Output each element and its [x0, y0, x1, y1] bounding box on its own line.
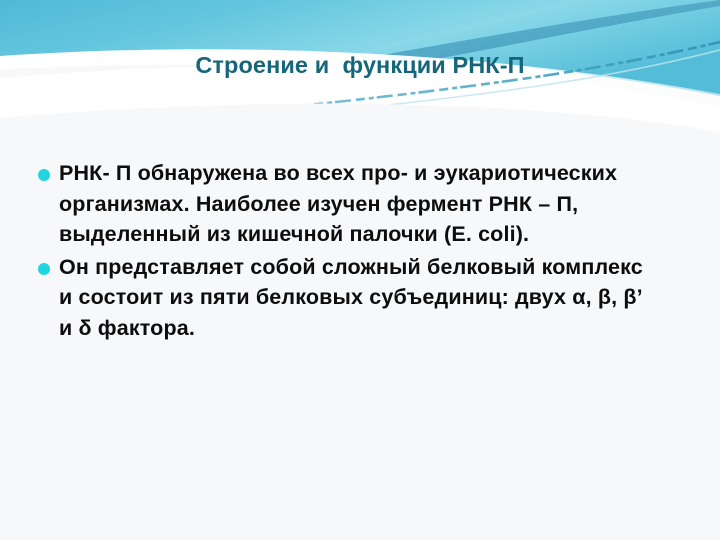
list-item: РНК- П обнаружена во всех про- и эукарио…: [38, 158, 653, 250]
bullet-dot-icon: [38, 169, 50, 181]
slide-body: РНК- П обнаружена во всех про- и эукарио…: [38, 158, 653, 345]
wave-band-primary: [0, 0, 720, 96]
slide: Строение и функции РНК-П РНК- П обнаруже…: [0, 0, 720, 540]
list-item-text: РНК- П обнаружена во всех про- и эукарио…: [59, 158, 653, 250]
page-title: Строение и функции РНК-П: [0, 52, 720, 79]
wave-base-fade: [0, 104, 720, 150]
bullet-dot-icon: [38, 263, 50, 275]
list-item-text: Он представляет собой сложный белковый к…: [59, 252, 653, 344]
list-item: Он представляет собой сложный белковый к…: [38, 252, 653, 344]
